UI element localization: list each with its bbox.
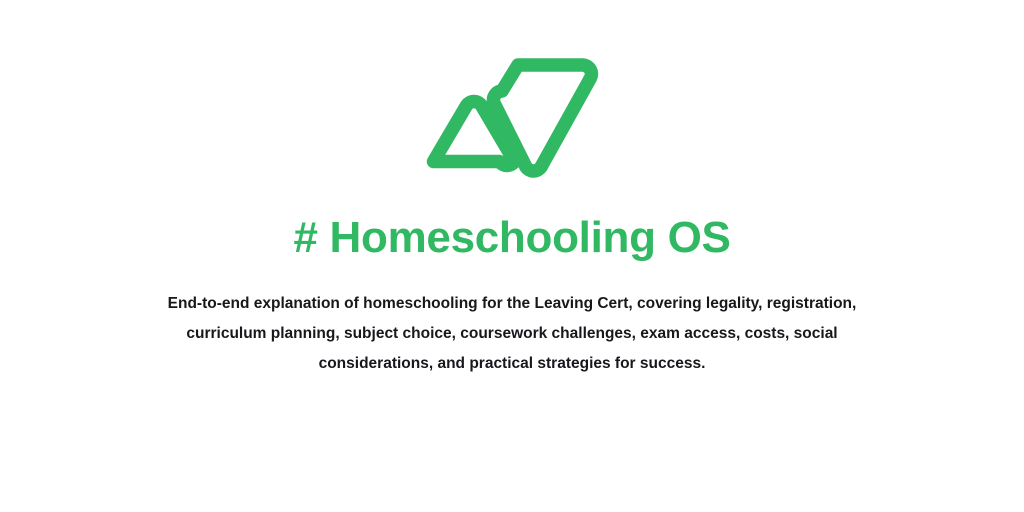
- page-subtitle: End-to-end explanation of homeschooling …: [167, 289, 857, 379]
- brand-logo-icon: [424, 55, 600, 183]
- page-title: # Homeschooling OS: [293, 215, 730, 261]
- cover-page: # Homeschooling OS End-to-end explanatio…: [0, 0, 1024, 512]
